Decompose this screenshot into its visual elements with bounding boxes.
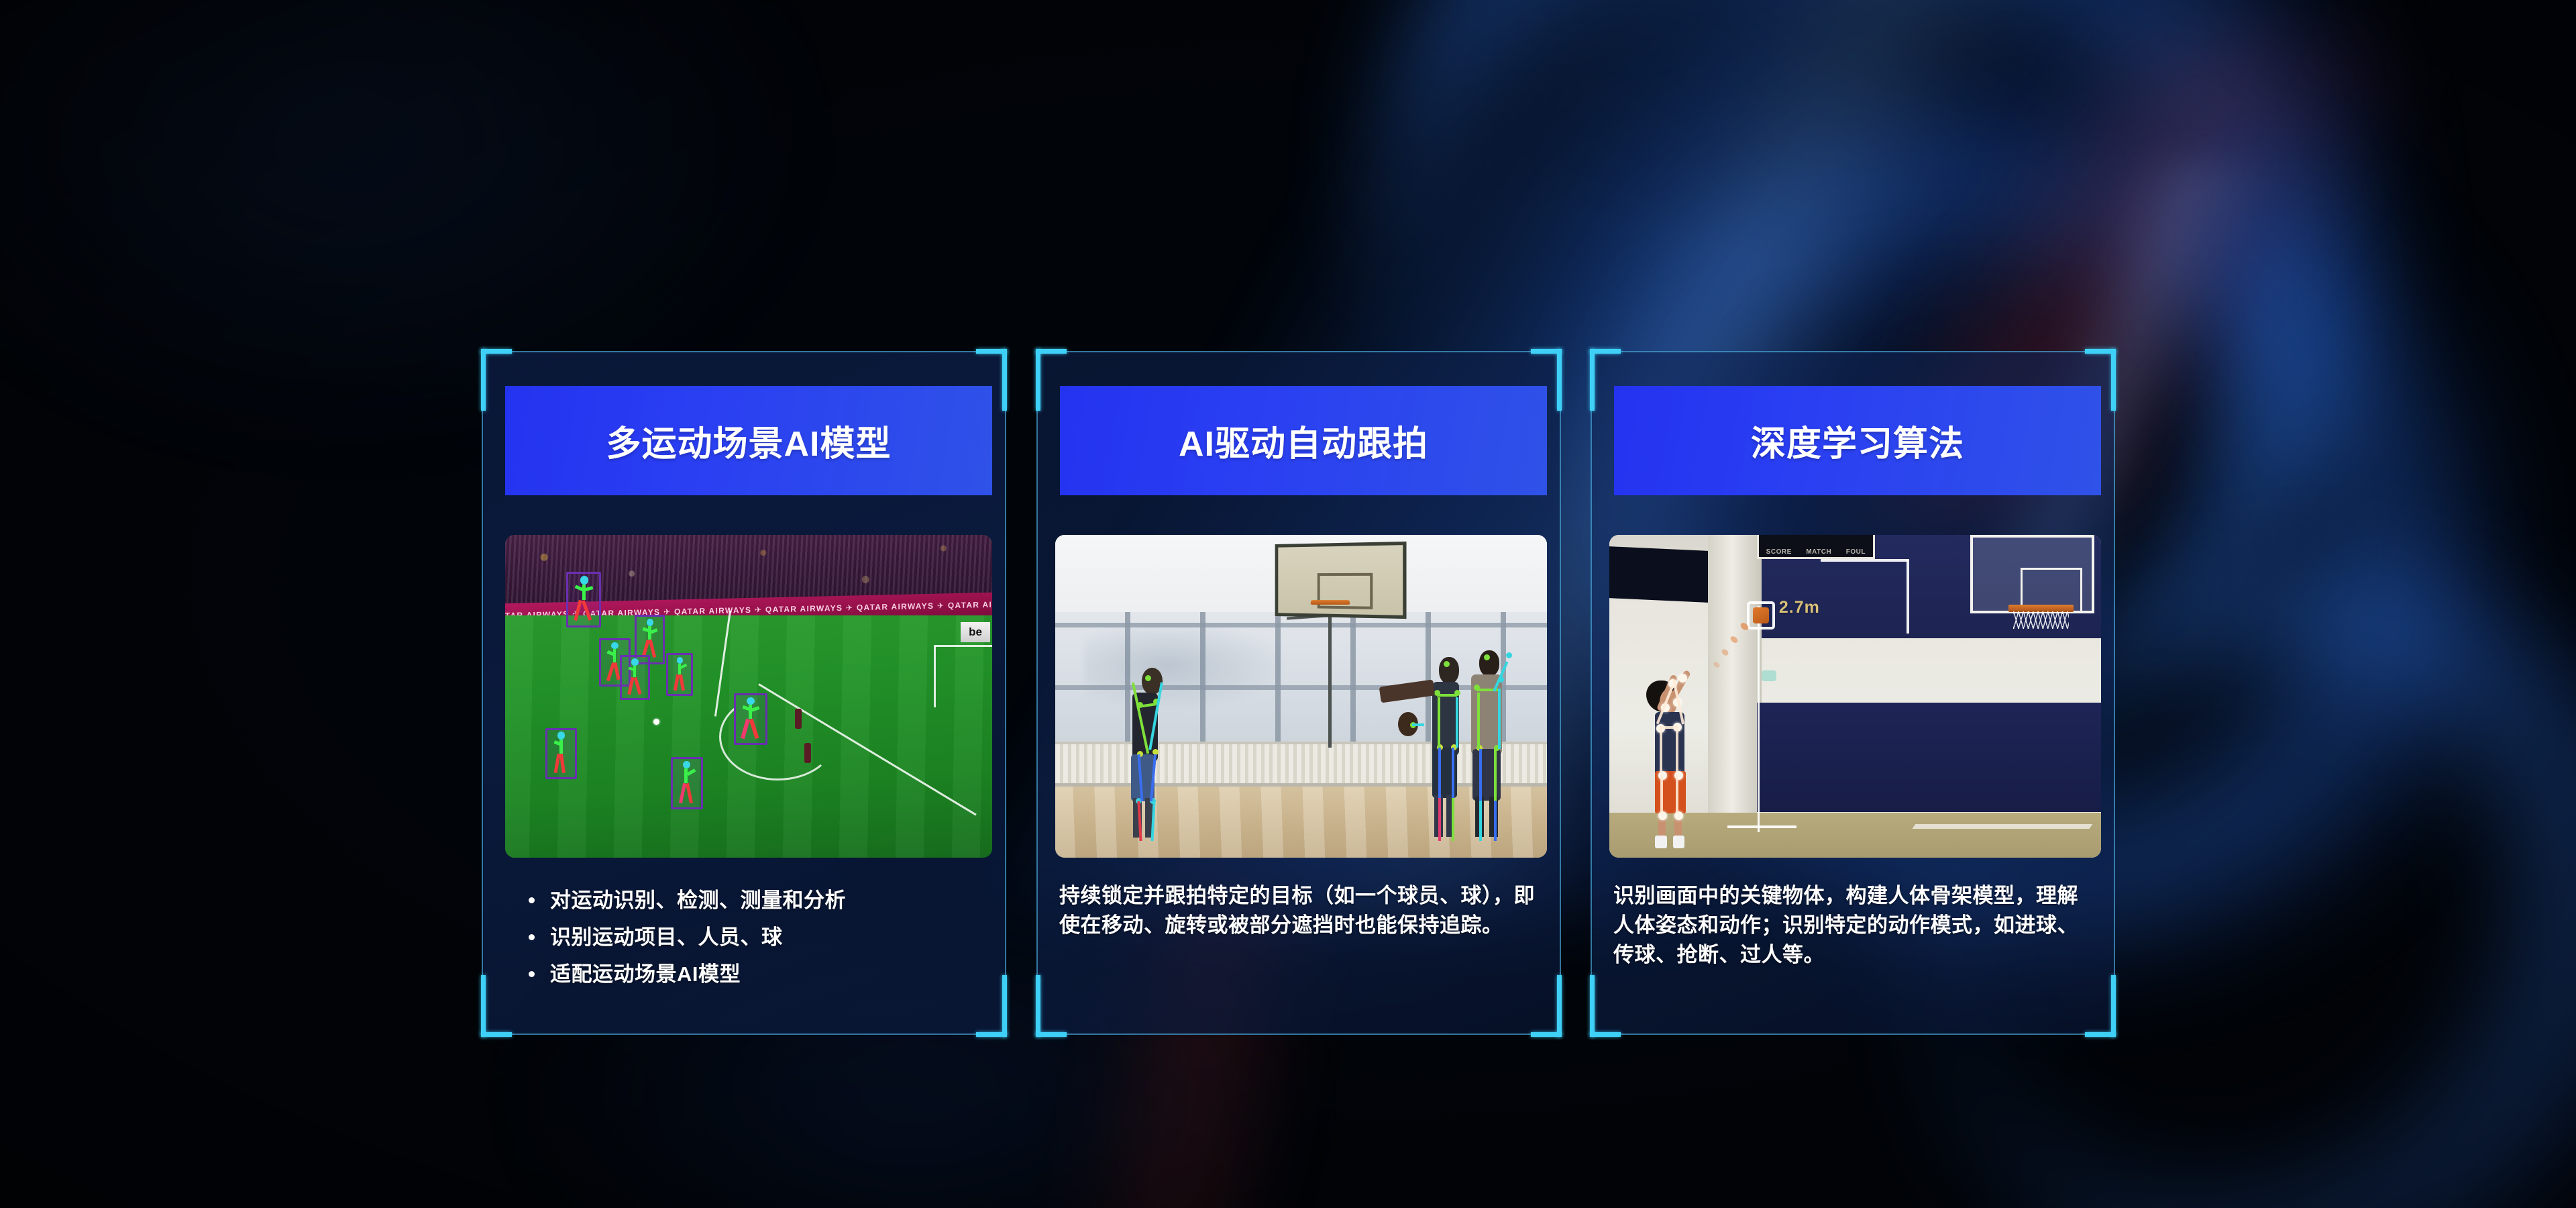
tracked-player-right-b	[1458, 645, 1522, 845]
measurement-line-vertical-right	[1907, 559, 1909, 634]
scoreboard: SCORE MATCH FOUL	[1757, 535, 1875, 559]
player-detection-box	[666, 653, 694, 695]
list-item: 对运动识别、检测、测量和分析	[527, 886, 986, 915]
gym-wall-navy-lower	[1757, 703, 2101, 815]
soccer-ball	[653, 719, 659, 725]
card-edge-top	[482, 351, 1006, 352]
pose-skeleton	[668, 655, 692, 693]
card-media-soccer-pitch-detection: QATAR AIRWAYS ✈ QATAR AIRWAYS ✈ QATAR AI…	[505, 535, 992, 858]
card-body: 识别画面中的关键物体，构建人体骨架模型，理解人体姿态和动作；识别特定的动作模式，…	[1613, 881, 2095, 970]
basketball-rim	[1311, 600, 1350, 605]
basketball-in-play	[1395, 706, 1429, 764]
card-title-bar: AI驱动自动跟拍	[1060, 386, 1547, 495]
pose-skeleton	[547, 730, 576, 777]
card-title-bar: 多运动场景AI模型	[505, 386, 992, 495]
feature-card-multi-sport-ai-model[interactable]: 多运动场景AI模型 QATAR AIRWAYS ✈ QATAR AIRWAYS …	[482, 351, 1006, 1035]
measurement-line-vertical-left	[1758, 606, 1760, 832]
sponsor-badge: be	[961, 622, 990, 642]
player-detection-box	[566, 572, 601, 627]
opponent-player	[804, 743, 811, 763]
card-title: 多运动场景AI模型	[606, 415, 891, 466]
feature-card-ai-auto-tracking[interactable]: AI驱动自动跟拍	[1036, 351, 1561, 1035]
measurement-line-base	[1727, 825, 1796, 828]
basketball-backboard	[1275, 542, 1406, 619]
ball-tracking-box	[1747, 601, 1775, 630]
gym-scene	[1055, 535, 1547, 858]
player-detection-box	[545, 728, 578, 779]
card-title-bar: 深度学习算法	[1614, 386, 2101, 495]
pose-skeleton	[673, 759, 701, 807]
player-detection-box	[734, 693, 767, 745]
card-edge-top	[1036, 351, 1561, 352]
player-detection-box	[620, 655, 650, 700]
card-edge-left	[1036, 351, 1038, 1035]
pose-skeleton	[1119, 664, 1178, 844]
pitch-line-vertical	[714, 611, 731, 717]
pose-skeleton	[736, 695, 765, 743]
card-body: 对运动识别、检测、测量和分析 识别运动项目、人员、球 适配运动场景AI模型	[527, 886, 986, 997]
card-edge-left	[1591, 351, 1592, 1035]
card-edge-bottom	[1036, 1034, 1561, 1035]
feature-bullet-list: 对运动识别、检测、测量和分析 识别运动项目、人员、球 适配运动场景AI模型	[527, 886, 986, 989]
card-edge-right	[1005, 351, 1006, 1035]
soccer-scene: QATAR AIRWAYS ✈ QATAR AIRWAYS ✈ QATAR AI…	[505, 535, 992, 858]
feature-card-group: 多运动场景AI模型 QATAR AIRWAYS ✈ QATAR AIRWAYS …	[0, 0, 2576, 1208]
scoreboard-label-foul: FOUL	[1846, 548, 1866, 556]
list-item: 适配运动场景AI模型	[527, 960, 986, 989]
pose-skeleton	[1458, 645, 1522, 845]
pitch-line-box-top	[934, 645, 992, 647]
basketball-net	[2013, 611, 2070, 629]
measurement-line-top	[1821, 559, 1909, 562]
card-media-gym-basketball-pose-tracking	[1055, 535, 1547, 858]
gym-pillar	[1708, 535, 1762, 819]
shot-analysis-scene: SCORE MATCH FOUL 2.7m	[1609, 535, 2101, 858]
hoop-support-pole	[1328, 612, 1332, 748]
basketball-hoop-assembly	[1958, 535, 2101, 632]
card-edge-bottom	[482, 1034, 1006, 1035]
card-edge-top	[1591, 351, 2115, 352]
player-detection-box	[671, 757, 703, 809]
card-edge-right	[2114, 351, 2115, 1035]
pose-skeleton	[568, 574, 599, 625]
card-edge-right	[1560, 351, 1561, 1035]
pitch-line-box-side	[934, 645, 936, 708]
scoreboard-label-score: SCORE	[1766, 548, 1792, 556]
tracking-marker	[1762, 670, 1776, 681]
tracked-player-left	[1119, 664, 1178, 844]
pose-skeleton	[622, 657, 648, 698]
card-edge-bottom	[1591, 1034, 2115, 1035]
card-edge-left	[482, 351, 483, 1035]
shooting-player	[1639, 674, 1713, 848]
measurement-label: 2.7m	[1779, 598, 1820, 617]
scoreboard-label-match: MATCH	[1806, 548, 1831, 556]
card-media-shot-height-measurement: SCORE MATCH FOUL 2.7m	[1609, 535, 2101, 858]
opponent-player	[795, 709, 802, 729]
card-body: 持续锁定并跟拍特定的目标（如一个球员、球），即使在移动、旋转或被部分遮挡时也能保…	[1059, 881, 1541, 940]
pose-skeleton	[1639, 674, 1713, 848]
list-item: 识别运动项目、人员、球	[527, 923, 986, 952]
feature-card-deep-learning-algorithm[interactable]: 深度学习算法 SCORE MATCH FOUL	[1591, 351, 2115, 1035]
card-title: AI驱动自动跟拍	[1179, 415, 1428, 466]
card-title: 深度学习算法	[1751, 415, 1964, 466]
